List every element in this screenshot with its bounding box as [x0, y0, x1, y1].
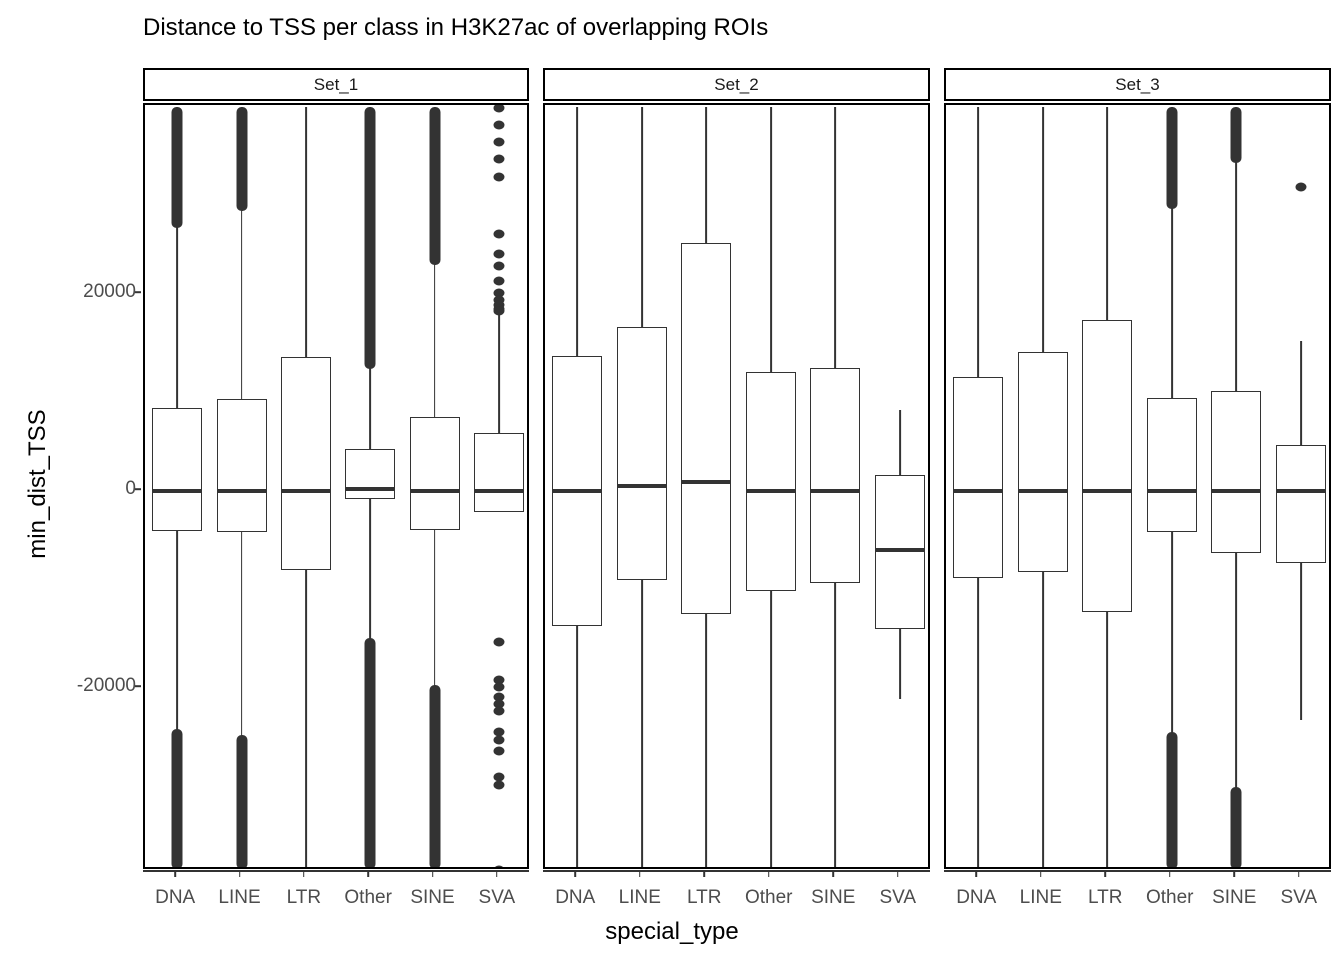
whisker-upper — [576, 107, 578, 356]
median-line — [217, 489, 267, 493]
x-tick-mark — [639, 871, 641, 877]
outlier-point — [493, 277, 504, 286]
median-line — [552, 489, 602, 493]
outlier-point — [493, 138, 504, 147]
outlier-point — [493, 706, 504, 715]
boxplot-box[interactable] — [1018, 352, 1068, 572]
outlier-point — [493, 780, 504, 789]
outlier-cluster — [1231, 787, 1242, 869]
outlier-point — [493, 229, 504, 238]
x-tick-label: Other — [1146, 887, 1194, 909]
whisker-upper — [305, 107, 307, 357]
outlier-point — [1295, 182, 1306, 191]
whisker-lower — [641, 580, 643, 869]
facet-panel-Set_1 — [143, 103, 529, 869]
x-tick-label: Other — [344, 887, 392, 909]
outlier-point — [493, 120, 504, 129]
whisker-upper — [1300, 341, 1302, 444]
boxplot-box[interactable] — [1082, 320, 1132, 613]
x-tick-mark — [975, 871, 977, 877]
outlier-cluster — [1231, 107, 1242, 163]
page-title: Distance to TSS per class in H3K27ac of … — [143, 14, 768, 42]
facet-strip-Set_3: Set_3 — [944, 68, 1331, 101]
boxplot-box[interactable] — [617, 327, 667, 579]
median-line — [410, 489, 460, 493]
x-axis-line — [543, 870, 930, 872]
whisker-lower — [705, 614, 707, 869]
x-tick-mark — [1104, 871, 1106, 877]
outlier-point — [493, 866, 504, 869]
x-tick-mark — [703, 871, 705, 877]
median-line — [1276, 489, 1326, 493]
outlier-point — [493, 747, 504, 756]
median-line — [1211, 489, 1261, 493]
x-axis-line — [143, 870, 529, 872]
median-line — [345, 487, 395, 491]
whisker-lower — [977, 578, 979, 869]
outlier-cluster — [172, 729, 183, 869]
outlier-cluster — [429, 107, 440, 265]
median-line — [1018, 489, 1068, 493]
whisker-lower — [834, 583, 836, 869]
x-tick-label: LTR — [687, 887, 721, 909]
y-tick-mark — [135, 488, 141, 490]
median-line — [1147, 489, 1197, 493]
x-tick-mark — [574, 871, 576, 877]
outlier-cluster — [1166, 107, 1177, 209]
x-tick-label: LTR — [287, 887, 321, 909]
boxplot-box[interactable] — [746, 372, 796, 592]
x-tick-mark — [832, 871, 834, 877]
x-tick-label: DNA — [956, 887, 996, 909]
y-tick-mark — [135, 291, 141, 293]
median-line — [474, 489, 524, 493]
outlier-point — [493, 306, 504, 315]
x-tick-mark — [1040, 871, 1042, 877]
outlier-cluster — [172, 107, 183, 228]
boxplot-box[interactable] — [281, 357, 331, 570]
boxplot-box[interactable] — [1276, 445, 1326, 563]
outlier-point — [493, 249, 504, 258]
boxplot-box[interactable] — [152, 408, 202, 531]
whisker-lower — [1106, 612, 1108, 869]
x-axis-line — [944, 870, 1331, 872]
whisker-lower — [576, 626, 578, 869]
whisker-lower — [1042, 572, 1044, 869]
whisker-lower — [1300, 563, 1302, 720]
median-line — [281, 489, 331, 493]
x-tick-mark — [897, 871, 899, 877]
median-line — [953, 489, 1003, 493]
x-tick-label: LTR — [1088, 887, 1122, 909]
x-tick-label: LINE — [619, 887, 661, 909]
whisker-upper — [770, 107, 772, 372]
boxplot-box[interactable] — [681, 243, 731, 614]
whisker-upper — [899, 410, 901, 475]
x-tick-mark — [1298, 871, 1300, 877]
x-tick-label: Other — [745, 887, 793, 909]
x-tick-mark — [367, 871, 369, 877]
outlier-point — [493, 172, 504, 181]
x-tick-label: LINE — [218, 887, 260, 909]
outlier-cluster — [236, 107, 247, 211]
outlier-point — [493, 637, 504, 646]
y-tick-mark — [135, 685, 141, 687]
y-tick-label: 20000 — [83, 281, 136, 303]
outlier-cluster — [1166, 732, 1177, 869]
x-tick-mark — [768, 871, 770, 877]
facet-panel-Set_2 — [543, 103, 930, 869]
whisker-upper — [498, 315, 500, 433]
outlier-cluster — [236, 735, 247, 869]
x-tick-label: SVA — [879, 887, 916, 909]
x-tick-mark — [303, 871, 305, 877]
boxplot-box[interactable] — [953, 377, 1003, 578]
x-tick-label: LINE — [1020, 887, 1062, 909]
x-tick-mark — [496, 871, 498, 877]
y-tick-label: -20000 — [77, 675, 136, 697]
x-tick-label: SINE — [410, 887, 454, 909]
facet-strip-Set_1: Set_1 — [143, 68, 529, 101]
median-line — [746, 489, 796, 493]
outlier-point — [493, 683, 504, 692]
boxplot-box[interactable] — [810, 368, 860, 583]
median-line — [681, 480, 731, 484]
facet-panel-Set_3 — [944, 103, 1331, 869]
x-tick-mark — [1233, 871, 1235, 877]
x-tick-label: DNA — [155, 887, 195, 909]
x-tick-mark — [174, 871, 176, 877]
boxplot-box[interactable] — [1147, 398, 1197, 532]
outlier-point — [493, 155, 504, 164]
outlier-point — [493, 736, 504, 745]
whisker-upper — [977, 107, 979, 377]
median-line — [617, 484, 667, 488]
facet-strip-Set_2: Set_2 — [543, 68, 930, 101]
x-tick-label: SVA — [1280, 887, 1317, 909]
median-line — [1082, 489, 1132, 493]
outlier-point — [493, 262, 504, 271]
x-axis-label: special_type — [0, 918, 1344, 946]
boxplot-box[interactable] — [474, 433, 524, 512]
whisker-upper — [1042, 107, 1044, 352]
boxplot-box[interactable] — [1211, 391, 1261, 554]
whisker-lower — [770, 591, 772, 869]
whisker-upper — [834, 107, 836, 368]
x-tick-mark — [1169, 871, 1171, 877]
whisker-upper — [705, 107, 707, 243]
median-line — [875, 548, 925, 552]
y-axis-label: min_dist_TSS — [6, 0, 46, 960]
outlier-cluster — [365, 638, 376, 869]
boxplot-box[interactable] — [217, 399, 267, 532]
x-tick-label: SINE — [811, 887, 855, 909]
chart-root: Distance to TSS per class in H3K27ac of … — [0, 0, 1344, 960]
x-tick-label: DNA — [555, 887, 595, 909]
boxplot-box[interactable] — [410, 417, 460, 530]
whisker-lower — [305, 570, 307, 869]
median-line — [810, 489, 860, 493]
whisker-upper — [1106, 107, 1108, 320]
outlier-point — [493, 103, 504, 112]
outlier-cluster — [429, 685, 440, 869]
median-line — [152, 489, 202, 493]
whisker-lower — [899, 629, 901, 699]
boxplot-box[interactable] — [345, 449, 395, 499]
facet-strip-label: Set_2 — [714, 75, 758, 95]
x-tick-mark — [239, 871, 241, 877]
outlier-cluster — [365, 107, 376, 369]
x-tick-mark — [432, 871, 434, 877]
x-tick-label: SINE — [1212, 887, 1256, 909]
facet-strip-label: Set_3 — [1115, 75, 1159, 95]
x-tick-label: SVA — [479, 887, 516, 909]
facet-strip-label: Set_1 — [314, 75, 358, 95]
whisker-upper — [641, 107, 643, 327]
